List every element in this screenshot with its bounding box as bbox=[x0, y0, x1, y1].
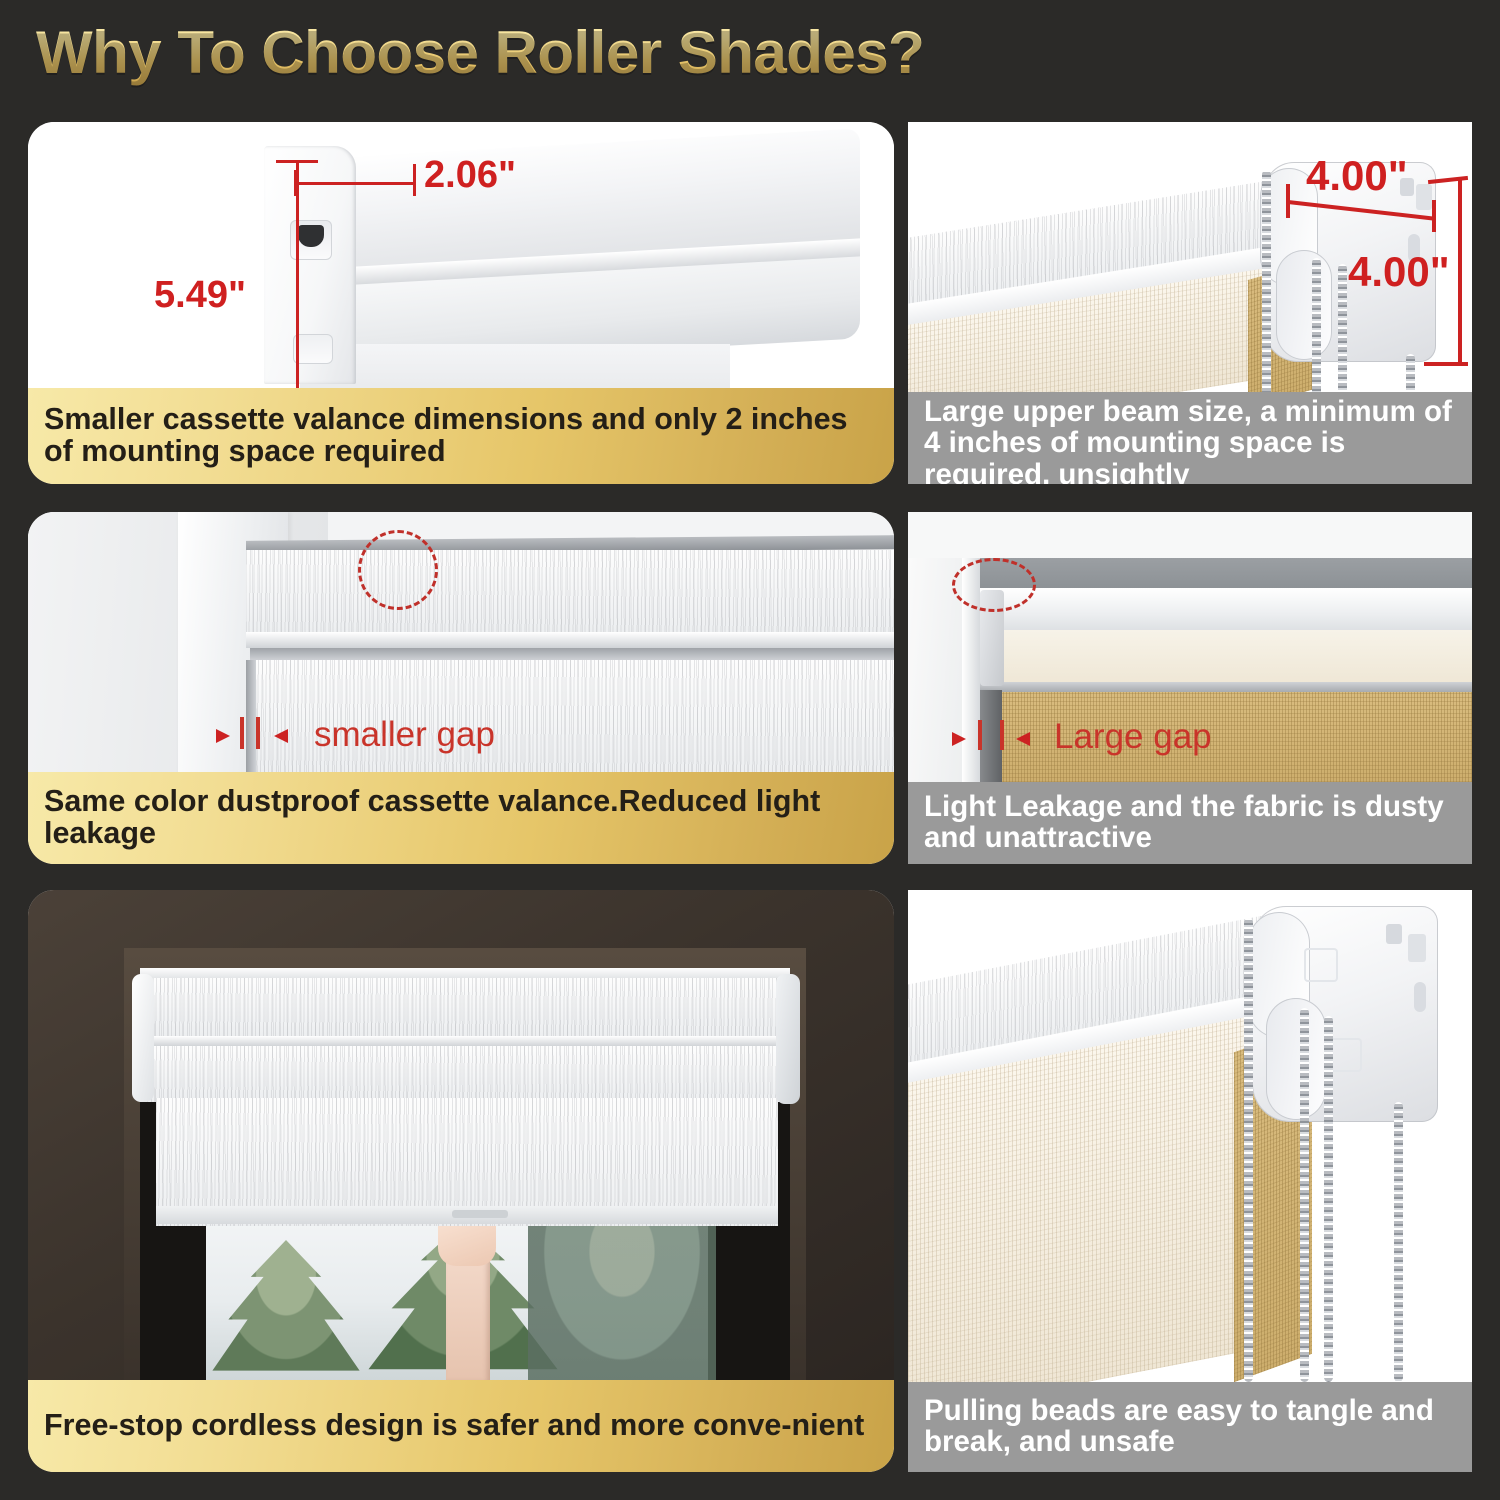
comparison-grid: 2.06" 5.49" Smaller cassette valance dim… bbox=[0, 0, 1500, 1500]
gap-tick-right bbox=[1000, 720, 1004, 750]
height-dim-line bbox=[1458, 180, 1462, 366]
wall-top bbox=[908, 512, 1472, 558]
panel-mid-right-caption: Light Leakage and the fabric is dusty an… bbox=[908, 782, 1472, 864]
gap-label: smaller gap bbox=[314, 715, 495, 755]
panel-top-left-caption: Smaller cassette valance dimensions and … bbox=[28, 388, 894, 484]
caption-text: Large upper beam size, a minimum of 4 in… bbox=[924, 396, 1456, 484]
cassette-face bbox=[140, 978, 790, 1038]
bracket-emboss-bottom bbox=[1328, 1038, 1362, 1072]
caption-text: Light Leakage and the fabric is dusty an… bbox=[924, 791, 1456, 854]
gap-arrow-left bbox=[274, 729, 288, 743]
shade-fabric bbox=[300, 344, 730, 390]
panel-bottom-left-photo bbox=[28, 890, 894, 1382]
width-dim-tick-left bbox=[1286, 184, 1290, 218]
panel-bottom-right-caption: Pulling beads are easy to tangle and bre… bbox=[908, 1382, 1472, 1472]
panel-top-right-photo: 4.00" 4.00" bbox=[908, 122, 1472, 392]
width-dim-line bbox=[294, 182, 416, 185]
caption-text: Smaller cassette valance dimensions and … bbox=[44, 403, 878, 468]
valance-face bbox=[246, 550, 894, 636]
highlight-circle bbox=[358, 530, 438, 610]
highlight-circle bbox=[952, 558, 1036, 612]
height-dim-line bbox=[296, 160, 299, 390]
end-cap-right bbox=[776, 974, 800, 1104]
bead-chain-3 bbox=[1324, 1016, 1333, 1382]
screw-boss bbox=[293, 334, 333, 364]
height-dim-tick-bottom bbox=[1424, 362, 1468, 366]
top-rail-shadow bbox=[964, 558, 1472, 592]
bracket-drum-bottom bbox=[1276, 250, 1332, 360]
caption-text: Pulling beads are easy to tangle and bre… bbox=[924, 1395, 1456, 1458]
gap-arrow-right bbox=[952, 732, 966, 746]
height-dim-tick-top bbox=[276, 160, 318, 163]
beige-band bbox=[964, 630, 1472, 684]
bead-chain-1 bbox=[1244, 918, 1253, 1382]
bead-chain-1 bbox=[1262, 170, 1271, 392]
gap-tick-left bbox=[978, 720, 982, 750]
panel-mid-left-caption: Same color dustproof cassette valance.Re… bbox=[28, 772, 894, 864]
panel-bottom-right-photo bbox=[908, 890, 1472, 1382]
gap-tick-right bbox=[256, 717, 260, 749]
tree-right bbox=[528, 1208, 716, 1382]
width-dim-label: 2.06" bbox=[424, 154, 516, 197]
caption-text: Same color dustproof cassette valance.Re… bbox=[44, 785, 878, 850]
panel-bottom-left-caption: Free-stop cordless design is safer and m… bbox=[28, 1380, 894, 1472]
bead-chain-4 bbox=[1394, 1102, 1403, 1382]
panel-mid-left: smaller gap Same color dustproof cassett… bbox=[28, 512, 894, 864]
bead-chain-3 bbox=[1338, 264, 1347, 392]
bracket-emboss-top bbox=[1304, 948, 1338, 982]
gap-arrow-left bbox=[1016, 732, 1030, 746]
bead-chain-2 bbox=[1312, 258, 1321, 392]
roller-tube bbox=[140, 1046, 790, 1102]
end-cap-left bbox=[132, 974, 154, 1102]
bead-chain-2 bbox=[1300, 1008, 1309, 1382]
gap-arrow-right bbox=[216, 729, 230, 743]
gap-tick-left bbox=[240, 717, 244, 749]
valance-lower-edge bbox=[246, 632, 894, 648]
shade-side-edge bbox=[246, 660, 256, 780]
panel-mid-right-photo: Large gap bbox=[908, 512, 1472, 782]
caption-text: Free-stop cordless design is safer and m… bbox=[44, 1409, 864, 1441]
bottom-rail-grip bbox=[452, 1210, 508, 1218]
valance-face bbox=[964, 588, 1472, 636]
panel-top-left: 2.06" 5.49" Smaller cassette valance dim… bbox=[28, 122, 894, 484]
panel-top-right-caption: Large upper beam size, a minimum of 4 in… bbox=[908, 392, 1472, 484]
width-dim-tick-right bbox=[413, 164, 416, 196]
panel-top-left-photo: 2.06" 5.49" bbox=[28, 122, 894, 390]
height-dim-label: 5.49" bbox=[154, 274, 246, 317]
height-dim-label: 4.00" bbox=[1348, 248, 1450, 296]
panel-mid-right: Large gap Light Leakage and the fabric i… bbox=[908, 512, 1472, 864]
panel-bottom-right: Pulling beads are easy to tangle and bre… bbox=[908, 890, 1472, 1472]
panel-bottom-left: Free-stop cordless design is safer and m… bbox=[28, 890, 894, 1472]
panel-mid-left-photo: smaller gap bbox=[28, 512, 894, 780]
gap-label: Large gap bbox=[1054, 717, 1212, 757]
bracket-drum-bottom bbox=[1266, 998, 1326, 1120]
panel-top-right: 4.00" 4.00" Large upper beam size, a min… bbox=[908, 122, 1472, 484]
width-dim-tick-right bbox=[1432, 200, 1436, 232]
width-dim-label: 4.00" bbox=[1306, 152, 1408, 200]
bead-chain-4 bbox=[1406, 354, 1415, 392]
